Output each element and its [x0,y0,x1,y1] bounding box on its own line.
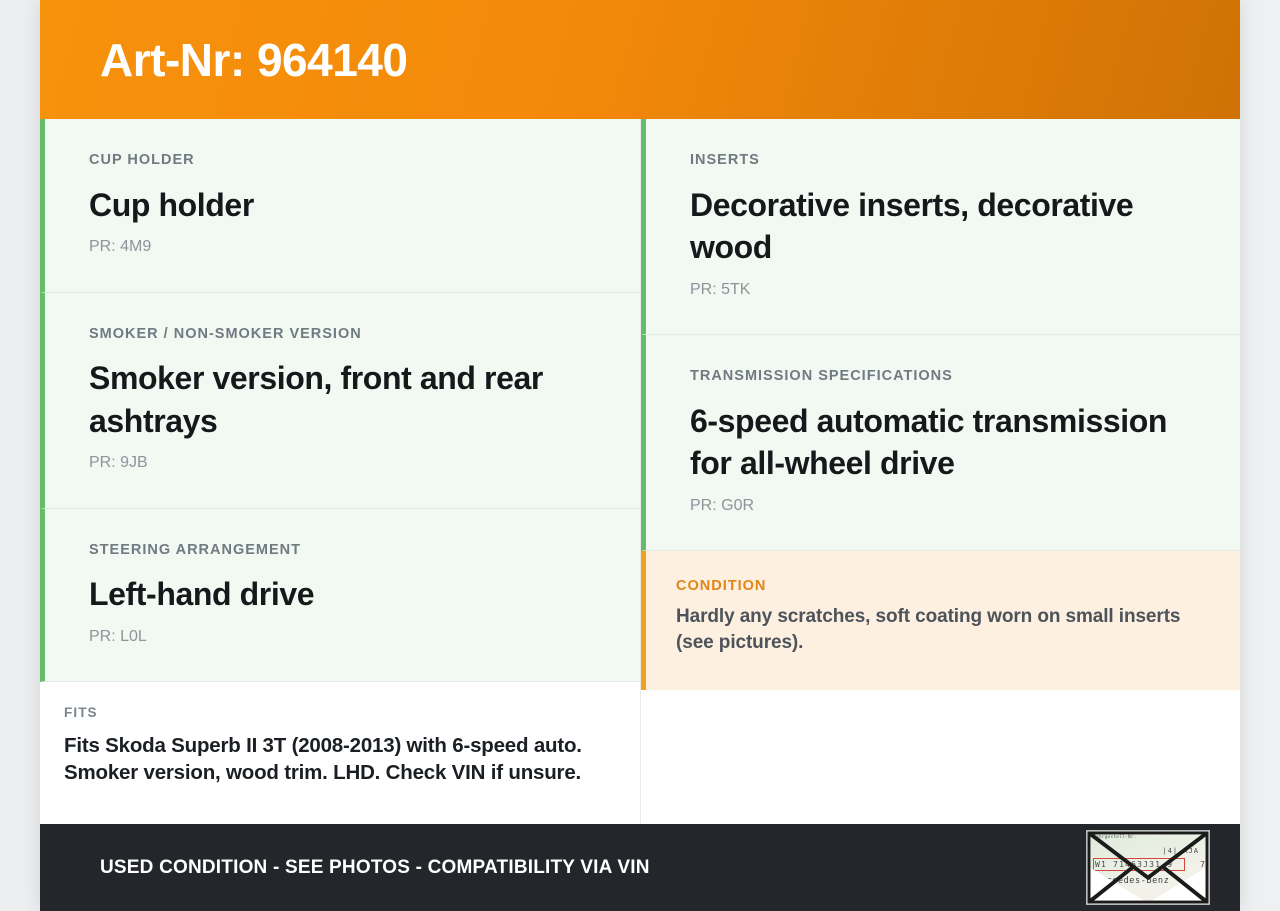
spec-label: INSERTS [690,153,1196,168]
left-column-filler [40,810,640,824]
spec-label: STEERING ARRANGEMENT [89,543,596,558]
spec-label: TRANSMISSION SPECIFICATIONS [690,369,1196,384]
spec-pr-code: PR: 4M9 [89,238,596,256]
right-column-filler [641,690,1240,824]
spec-label: CUP HOLDER [89,153,596,168]
spec-pr-code: PR: G0R [690,497,1196,515]
spec-card-smoker-version[interactable]: SMOKER / NON-SMOKER VERSION Smoker versi… [40,293,640,509]
left-column: CUP HOLDER Cup holder PR: 4M9 SMOKER / N… [40,119,640,824]
footer-banner-text: USED CONDITION - SEE PHOTOS - COMPATIBIL… [100,857,650,879]
spec-pr-code: PR: L0L [89,628,596,646]
envelope-icon[interactable]: Fahrgestell-Nr. |4| AJA W1 71463J31 9 7 … [1086,830,1210,905]
fits-label: FITS [64,706,600,720]
spec-pr-code: PR: 9JB [89,454,596,472]
spec-label: SMOKER / NON-SMOKER VERSION [89,327,596,342]
listing-page: Art-Nr: 964140 CUP HOLDER Cup holder PR:… [40,0,1240,911]
spec-card-inserts[interactable]: INSERTS Decorative inserts, decorative w… [641,119,1240,335]
spec-pr-code: PR: 5TK [690,281,1196,299]
spec-value: Smoker version, front and rear ashtrays [89,357,596,442]
spec-value: Left-hand drive [89,573,596,616]
envelope-outline-icon [1087,831,1209,904]
page-title: Art-Nr: 964140 [100,37,407,83]
spec-value: 6-speed automatic transmission for all-w… [690,400,1196,485]
condition-card[interactable]: CONDITION Hardly any scratches, soft coa… [641,551,1240,690]
header-banner: Art-Nr: 964140 [40,0,1240,119]
spec-card-steering-arrangement[interactable]: STEERING ARRANGEMENT Left-hand drive PR:… [40,509,640,683]
spec-value: Decorative inserts, decorative wood [690,184,1196,269]
footer-bar: USED CONDITION - SEE PHOTOS - COMPATIBIL… [40,824,1240,911]
fits-section: FITS Fits Skoda Superb II 3T (2008-2013)… [40,682,640,810]
spec-card-transmission[interactable]: TRANSMISSION SPECIFICATIONS 6-speed auto… [641,335,1240,551]
spec-columns: CUP HOLDER Cup holder PR: 4M9 SMOKER / N… [40,119,1240,824]
condition-label: CONDITION [676,579,1196,594]
spec-card-cup-holder[interactable]: CUP HOLDER Cup holder PR: 4M9 [40,119,640,293]
right-column: INSERTS Decorative inserts, decorative w… [640,119,1240,824]
fits-text: Fits Skoda Superb II 3T (2008-2013) with… [64,732,600,786]
spec-value: Cup holder [89,184,596,227]
condition-text: Hardly any scratches, soft coating worn … [676,604,1196,656]
